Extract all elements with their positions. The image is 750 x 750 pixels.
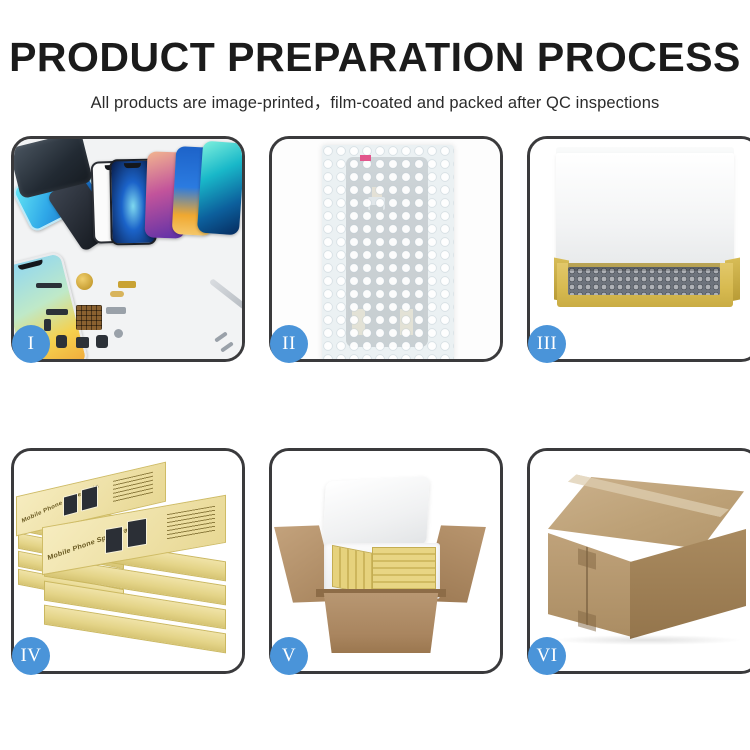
box-window-left xyxy=(105,526,123,554)
product-preparation-infographic: PRODUCT PREPARATION PROCESS All products… xyxy=(0,0,750,750)
notch-icon xyxy=(18,260,43,271)
box-spec-lines xyxy=(113,472,153,503)
carton-body xyxy=(316,593,446,653)
foam-sheet xyxy=(556,153,734,269)
sim-tray-part xyxy=(56,335,67,348)
chip-grid-part xyxy=(76,305,102,330)
page-title: PRODUCT PREPARATION PROCESS xyxy=(0,0,750,79)
flex-cable-part xyxy=(118,281,136,288)
bubble-wrap-bag xyxy=(322,145,454,359)
bubble-wrapped-contents xyxy=(568,267,720,295)
screw-part xyxy=(220,341,234,352)
step-image-1 xyxy=(14,139,242,359)
screwdriver-icon xyxy=(209,278,242,310)
taptic-part xyxy=(76,337,89,348)
steps-grid: I II xyxy=(11,136,740,674)
step-badge-4: IV xyxy=(12,637,50,675)
box-window-left xyxy=(63,493,78,517)
step-panel-3: III xyxy=(527,136,750,362)
notch-icon xyxy=(124,163,141,168)
box-window-right xyxy=(81,485,98,512)
step-panel-1: I xyxy=(11,136,245,362)
earpiece-part xyxy=(36,283,62,288)
styrofoam-lid xyxy=(322,476,429,550)
step-image-5 xyxy=(272,451,500,671)
connector-part xyxy=(46,309,68,315)
step-badge-1: I xyxy=(12,325,50,363)
step-image-3 xyxy=(530,139,750,359)
screw-part xyxy=(214,331,228,342)
step-badge-6: VI xyxy=(528,637,566,675)
camera-flex-part xyxy=(106,307,126,314)
carton-shadow xyxy=(554,635,740,645)
pink-label-sticker xyxy=(360,155,371,161)
bracket-part xyxy=(44,319,51,331)
vibrator-part xyxy=(96,335,108,348)
box-window-right xyxy=(127,518,147,549)
step-panel-2: II xyxy=(269,136,503,362)
phone-screen-teal xyxy=(197,141,242,236)
step-image-2 xyxy=(272,139,500,359)
box-inner-shadow xyxy=(568,263,720,271)
speaker-part-icon xyxy=(76,273,93,290)
page-subtitle: All products are image-printed，film-coat… xyxy=(0,79,750,113)
header: PRODUCT PREPARATION PROCESS All products… xyxy=(0,0,750,113)
retail-box-label: Mobile Phone Spare Parts xyxy=(47,524,138,562)
box-spec-lines xyxy=(167,506,215,540)
step-badge-5: V xyxy=(270,637,308,675)
button-flex-part xyxy=(110,291,124,297)
step-badge-2: II xyxy=(270,325,308,363)
step-panel-4: Mobile Phone Spare Parts Mobile Phone Sp… xyxy=(11,448,245,674)
step-panel-5: V xyxy=(269,448,503,674)
step-badge-3: III xyxy=(528,325,566,363)
packed-retail-boxes-left xyxy=(332,545,374,595)
step-image-6 xyxy=(530,451,750,671)
sealed-carton-right-face xyxy=(630,529,746,639)
step-panel-6: VI xyxy=(527,448,750,674)
step-image-4: Mobile Phone Spare Parts Mobile Phone Sp… xyxy=(14,451,242,671)
screw-part xyxy=(114,329,123,338)
packed-retail-boxes-right xyxy=(372,547,436,591)
